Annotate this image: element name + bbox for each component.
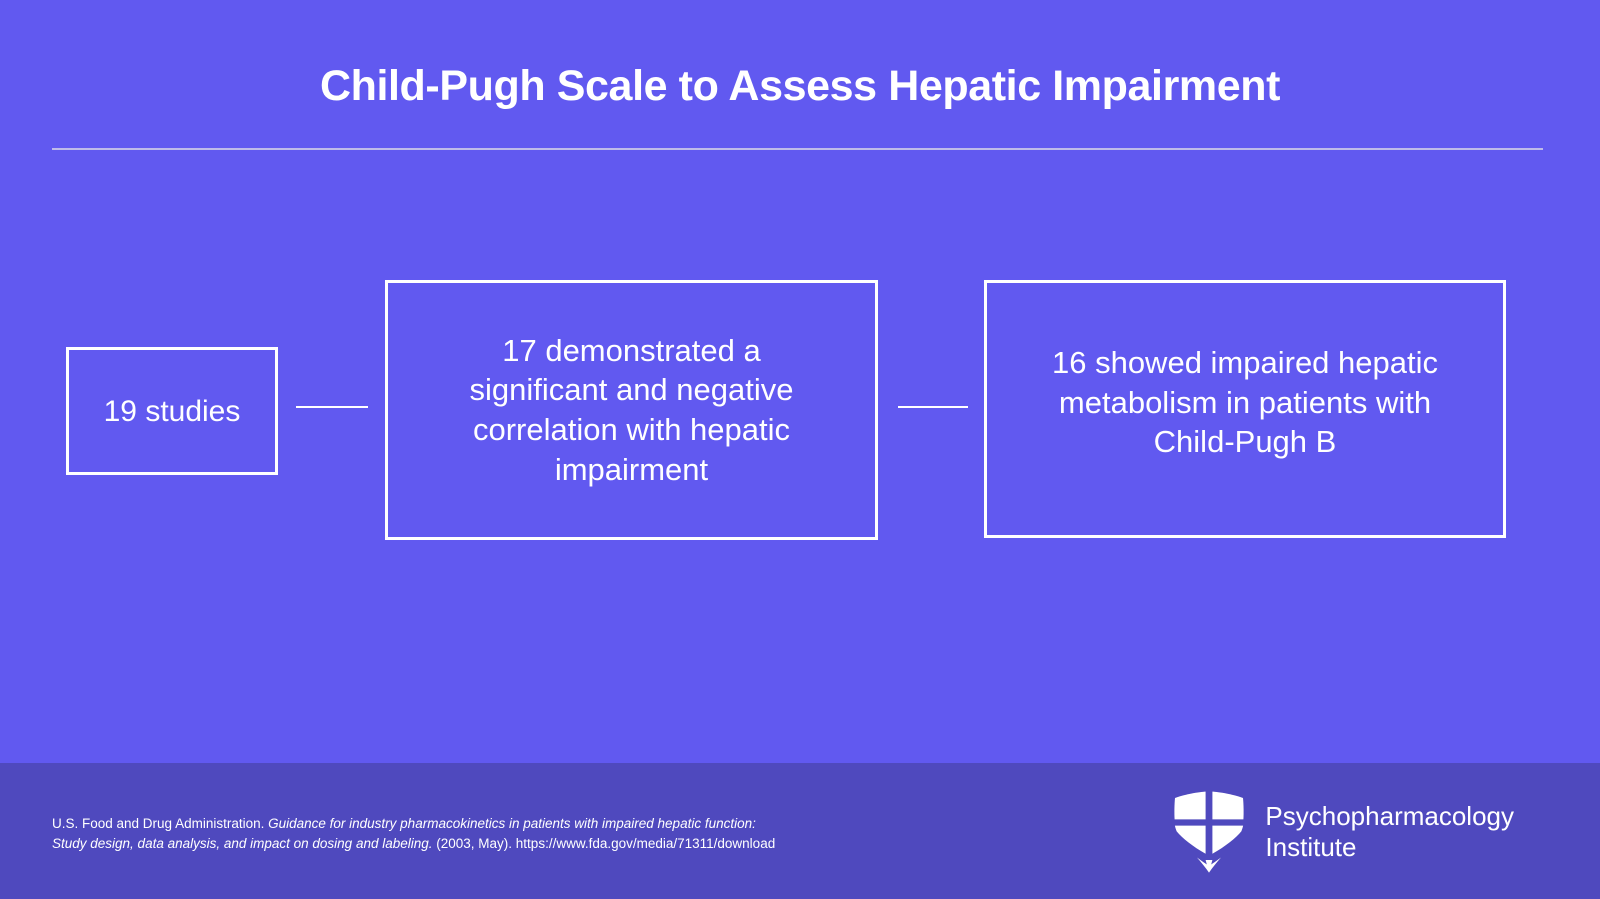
citation-line-2: Study design, data analysis, and impact …: [52, 834, 912, 854]
slide-canvas: Child-Pugh Scale to Assess Hepatic Impai…: [0, 0, 1600, 899]
footer-bar: U.S. Food and Drug Administration. Guida…: [0, 763, 1600, 899]
citation-details: (2003, May). https://www.fda.gov/media/7…: [433, 836, 776, 851]
flow-box-metabolism: 16 showed impaired hepatic metabolism in…: [984, 280, 1506, 538]
citation-title-part-1: Guidance for industry pharmacokinetics i…: [268, 816, 756, 831]
flow-box-studies-label: 19 studies: [69, 392, 275, 431]
citation-line-1: U.S. Food and Drug Administration. Guida…: [52, 814, 912, 834]
citation-title-part-2: Study design, data analysis, and impact …: [52, 836, 433, 851]
brand-name-line-2: Institute: [1265, 832, 1514, 863]
brand-name: Psychopharmacology Institute: [1265, 801, 1514, 862]
citation-text: U.S. Food and Drug Administration. Guida…: [52, 814, 912, 853]
brand-name-line-1: Psychopharmacology: [1265, 801, 1514, 832]
shield-icon: [1171, 791, 1247, 873]
flow-box-studies: 19 studies: [66, 347, 278, 475]
connector-correlation-to-metabolism: [898, 406, 968, 408]
connector-studies-to-correlation: [296, 406, 368, 408]
flow-box-correlation: 17 demonstrated a significant and negati…: [385, 280, 878, 540]
citation-source: U.S. Food and Drug Administration.: [52, 816, 268, 831]
flow-diagram: 19 studies 17 demonstrated a significant…: [0, 0, 1600, 763]
brand-logo: Psychopharmacology Institute: [1171, 791, 1514, 873]
flow-box-metabolism-label: 16 showed impaired hepatic metabolism in…: [987, 343, 1503, 462]
flow-box-correlation-label: 17 demonstrated a significant and negati…: [388, 331, 875, 490]
